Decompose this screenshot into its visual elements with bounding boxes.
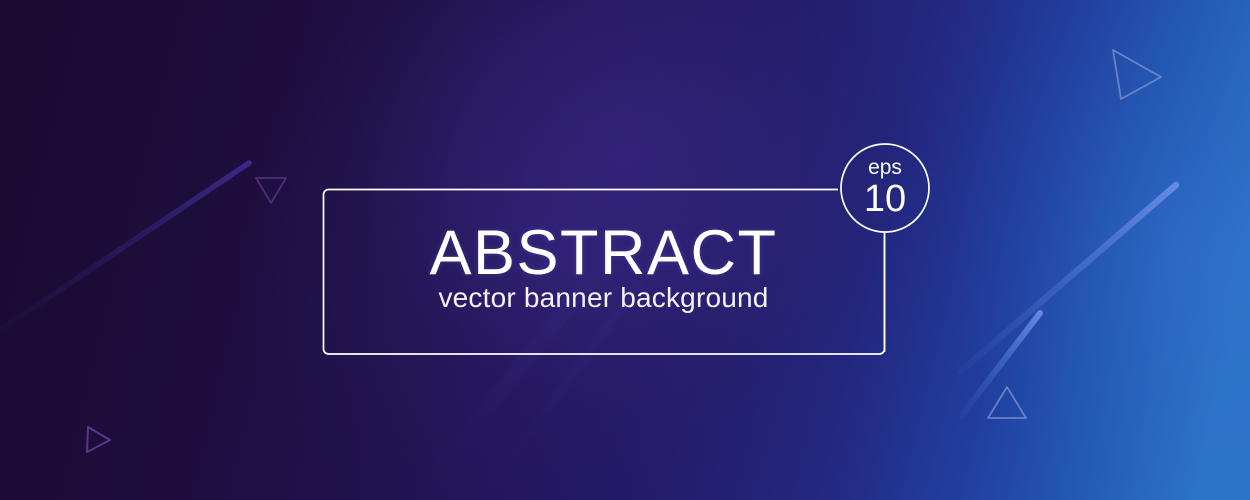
- abstract-banner: ABSTRACT vector banner background eps 10: [0, 0, 1250, 500]
- banner-graphics: [0, 0, 1250, 500]
- center-glow-circle-secondary: [230, 0, 890, 500]
